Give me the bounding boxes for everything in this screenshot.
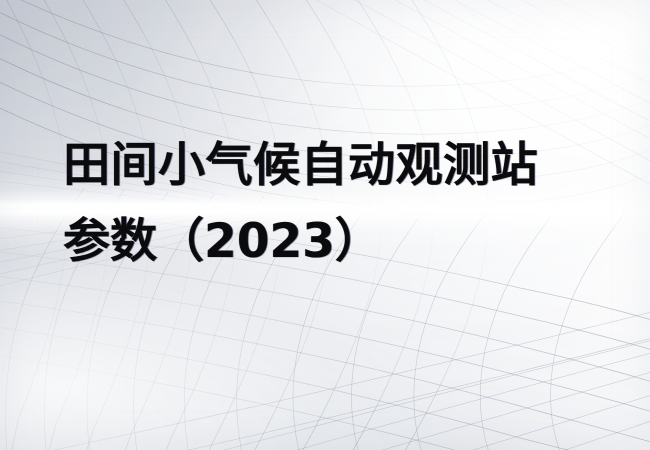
title-slide: 田间小气候自动观测站 参数（2023） — [0, 0, 650, 450]
slide-title: 田间小气候自动观测站 参数（2023） — [63, 128, 623, 280]
title-line-1: 田间小气候自动观测站 — [63, 128, 623, 204]
title-line-2: 参数（2023） — [63, 204, 623, 280]
